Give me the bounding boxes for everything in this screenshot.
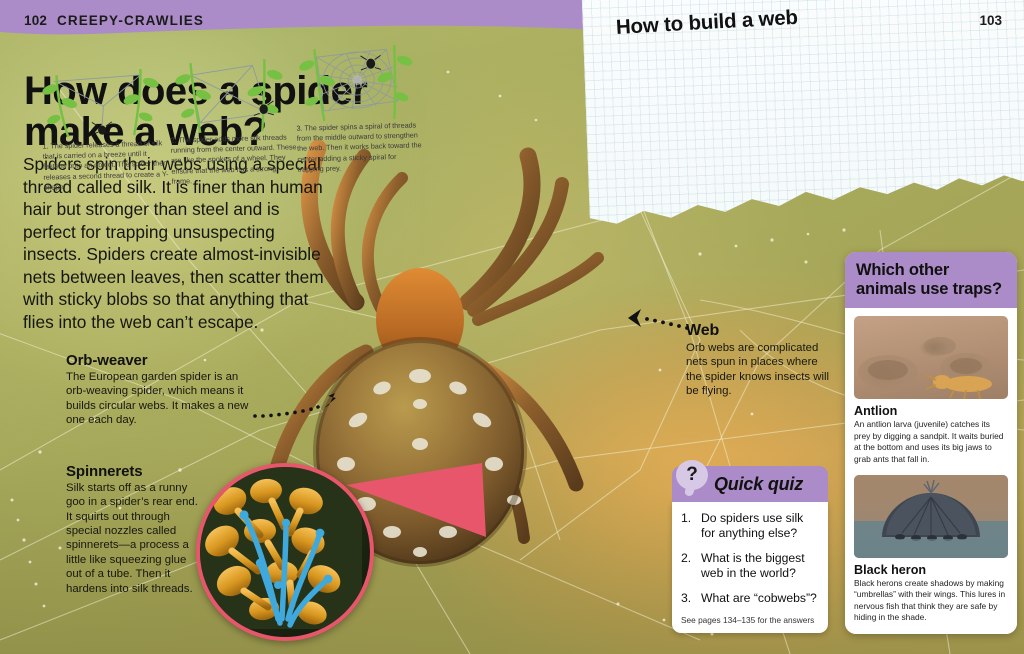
web-step-3-diagram [294,42,422,123]
book-spread: 102 CREEPY-CRAWLIES 103 How does a spide… [0,0,1024,654]
quick-quiz-panel: ? Quick quiz 1. Do spiders use silk for … [672,466,828,633]
animal-traps-title-line-2: animals use traps? [856,280,1002,298]
callout-spinnerets-title: Spinnerets [66,463,201,480]
quick-quiz-body: 1. Do spiders use silk for anything else… [672,502,828,633]
quiz-question: 3. What are “cobwebs”? [681,591,818,606]
web-step-1: 1. The spider releases a thread of silk … [40,60,170,193]
quiz-answers-note: See pages 134–135 for the answers [681,615,818,625]
callout-web-title: Web [686,322,836,340]
antlion-photo [854,316,1008,399]
animal-traps-title: Which other animals use traps? [856,261,1007,298]
page-number-right: 103 [979,13,1002,28]
web-step-2-caption: 2. The spider adds more silk threads run… [170,132,297,187]
quiz-question-number: 2. [681,551,701,582]
web-step-2-diagram [168,54,296,135]
quiz-question-text: Do spiders use silk for anything else? [701,511,818,542]
quiz-question: 2. What is the biggest web in the world? [681,551,818,582]
quiz-question-number: 1. [681,511,701,542]
web-step-1-caption: 1. The spider releases a thread of silk … [42,138,169,193]
quick-quiz-title: Quick quiz [714,474,803,495]
animal-traps-title-line-1: Which other [856,261,949,279]
callout-spinnerets: Spinnerets Silk starts off as a runny go… [66,463,201,596]
antlion-description: An antlion larva (juvenile) catches its … [854,419,1008,465]
animal-traps-body: Antlion An antlion larva (juvenile) catc… [845,308,1017,634]
question-mark-icon: ? [676,460,708,490]
web-step-2: 2. The spider adds more silk threads run… [168,54,298,187]
quiz-question-text: What are “cobwebs”? [701,591,817,606]
web-step-3: 3. The spider spins a spiral of threads … [294,42,424,175]
animal-traps-header: Which other animals use traps? [845,252,1017,308]
web-step-1-diagram [40,60,168,141]
black-heron-name: Black heron [854,563,1008,577]
callout-orb-weaver: Orb-weaver The European garden spider is… [66,352,316,427]
callout-web: Web Orb webs are complicated nets spun i… [686,322,836,398]
black-heron-description: Black herons create shadows by making “u… [854,578,1008,624]
spinnerets-micrograph [196,463,374,641]
web-step-3-caption: 3. The spider spins a spiral of threads … [296,120,423,175]
callout-orb-weaver-title: Orb-weaver [66,352,316,369]
antlion-name: Antlion [854,404,1008,418]
quick-quiz-header: ? Quick quiz [672,466,828,502]
callout-spinnerets-text: Silk starts off as a runny goo in a spid… [66,481,201,596]
animal-card-black-heron: Black heron Black herons create shadows … [854,475,1008,624]
chapter-title: CREEPY-CRAWLIES [57,13,204,28]
quiz-question-number: 3. [681,591,701,606]
quiz-question-text: What is the biggest web in the world? [701,551,818,582]
animal-traps-panel: Which other animals use traps? [845,252,1017,634]
animal-card-antlion: Antlion An antlion larva (juvenile) catc… [854,316,1008,465]
black-heron-photo [854,475,1008,558]
spinnerets-inset [196,463,496,654]
callout-web-text: Orb webs are complicated nets spun in pl… [686,341,836,398]
quiz-question: 1. Do spiders use silk for anything else… [681,511,818,542]
page-number-left: 102 [24,13,47,28]
question-mark-glyph: ? [676,460,708,490]
callout-orb-weaver-text: The European garden spider is an orb-wea… [66,370,258,427]
